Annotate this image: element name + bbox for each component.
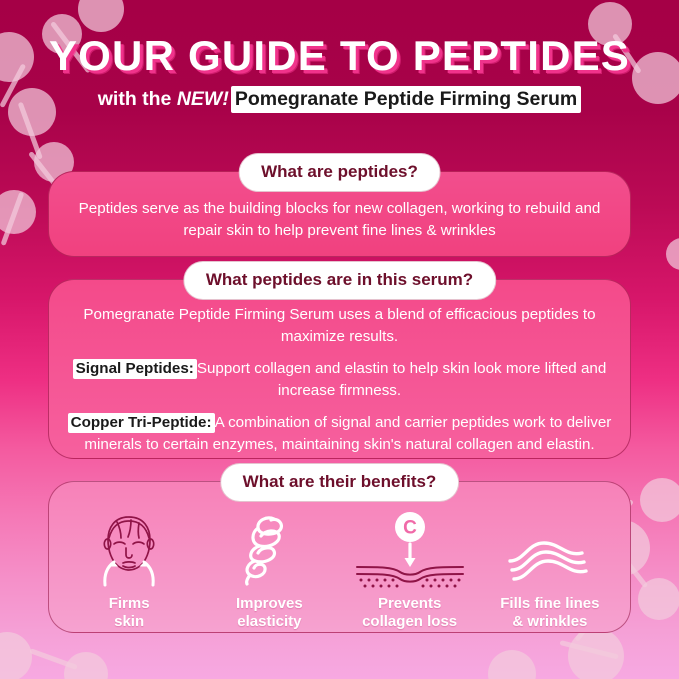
section-intro-paragraph: Pomegranate Peptide Firming Serum uses a… [67,304,612,347]
molecule-node [638,578,679,620]
benefit-label-line2: elasticity [199,613,339,631]
product-name-highlight: Pomegranate Peptide Firming Serum [231,86,581,113]
benefit-item: Firms skin [59,511,199,630]
benefit-label: Firms skin [59,595,199,630]
molecule-node [488,650,536,679]
page-title: YOUR GUIDE TO PEPTIDES [0,34,679,78]
header: YOUR GUIDE TO PEPTIDES with the NEW!Pome… [0,34,679,111]
wavy-lines-icon [480,511,620,589]
collagen-skin-layer-icon: C [340,511,480,589]
peptide-item-signal: Signal Peptides:Support collagen and ela… [67,358,612,401]
section-body: Peptides serve as the building blocks fo… [67,198,612,241]
benefit-label-line1: Improves [199,595,339,613]
face-lift-icon [59,511,199,589]
molecule-link [29,648,78,670]
benefit-item: Improves elasticity [199,511,339,630]
benefit-item: Fills fine lines & wrinkles [480,511,620,630]
peptide-definition: Support collagen and elastin to help ski… [197,360,606,399]
molecule-node [568,628,624,679]
section-card-what-are-peptides: What are peptides? Peptides serve as the… [48,171,631,257]
svg-text:C: C [403,518,417,539]
page-subtitle: with the NEW!Pomegranate Peptide Firming… [0,88,679,111]
benefit-label-line2: skin [59,613,199,631]
section-heading-pill: What are peptides? [238,153,441,192]
subtitle-prefix: with the [98,88,172,110]
molecule-link [0,192,24,246]
molecule-node [64,652,108,679]
section-paragraph: Peptides serve as the building blocks fo… [67,198,612,241]
peptide-term: Copper Tri-Peptide: [68,413,215,433]
molecule-node [666,238,679,270]
benefit-label-line1: Fills fine lines [480,595,620,613]
molecule-node [0,190,36,234]
section-card-benefits: What are their benefits? [48,481,631,633]
molecule-node [78,0,124,32]
section-heading-pill: What peptides are in this serum? [183,261,496,300]
section-body: Pomegranate Peptide Firming Serum uses a… [67,304,612,455]
section-card-peptides-in-serum: What peptides are in this serum? Pomegra… [48,279,631,459]
benefit-label-line2: & wrinkles [480,613,620,631]
benefit-label-line2: collagen loss [340,613,480,631]
peptide-item-copper: Copper Tri-Peptide:A combination of sign… [67,412,612,455]
benefit-label: Improves elasticity [199,595,339,630]
new-badge: NEW! [177,88,229,110]
peptide-term: Signal Peptides: [73,359,197,379]
benefit-label: Fills fine lines & wrinkles [480,595,620,630]
peptides-infographic: YOUR GUIDE TO PEPTIDES with the NEW!Pome… [0,0,679,679]
benefit-label-line1: Prevents [340,595,480,613]
benefits-list: Firms skin [59,511,620,630]
molecule-node [640,478,679,522]
molecule-node [0,632,32,679]
section-heading-pill: What are their benefits? [220,463,460,502]
benefit-label-line1: Firms [59,595,199,613]
benefit-item: C [340,511,480,630]
spring-coil-icon [199,511,339,589]
molecule-link [559,640,618,659]
benefit-label: Prevents collagen loss [340,595,480,630]
